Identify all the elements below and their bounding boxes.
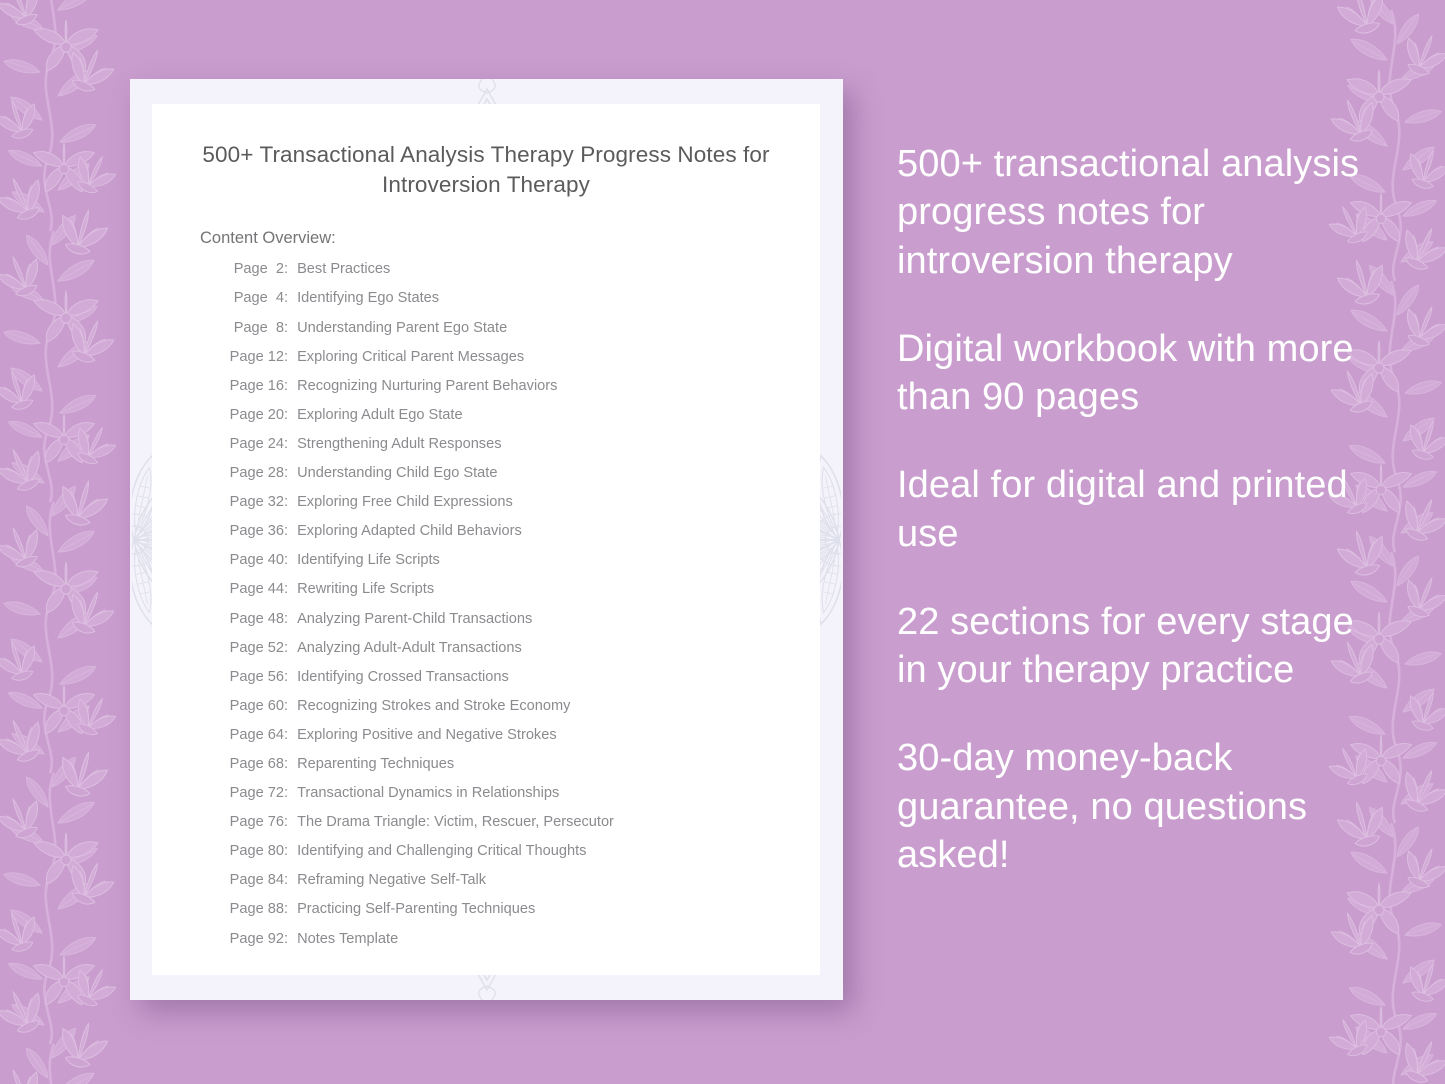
toc-page-number: Page 60: [222, 699, 284, 714]
toc-row: Page 16:Recognizing Nurturing Parent Beh…: [222, 379, 820, 408]
toc-page-number: Page 84: [222, 873, 284, 888]
toc-separator: :: [284, 350, 288, 365]
toc-row: Page 20:Exploring Adult Ego State: [222, 408, 820, 437]
toc-separator: :: [284, 495, 288, 510]
toc-section-title: Recognizing Strokes and Stroke Economy: [297, 699, 820, 714]
toc-section-title: Reframing Negative Self-Talk: [297, 873, 820, 888]
floral-vine-border-left: [0, 0, 142, 1084]
toc-section-title: Identifying Ego States: [297, 291, 820, 306]
toc-row: Page 80:Identifying and Challenging Crit…: [222, 844, 820, 873]
toc-section-title: Strengthening Adult Responses: [297, 437, 820, 452]
toc-page-number: Page 40: [222, 553, 284, 568]
toc-page-number: Page 24: [222, 437, 284, 452]
toc-page-number: Page 44: [222, 582, 284, 597]
toc-page-number: Page 28: [222, 466, 284, 481]
card-inner-panel: 500+ Transactional Analysis Therapy Prog…: [152, 104, 820, 975]
toc-separator: :: [284, 815, 288, 830]
toc-row: Page 32:Exploring Free Child Expressions: [222, 495, 820, 524]
toc-row: Page 28:Understanding Child Ego State: [222, 466, 820, 495]
toc-separator: :: [284, 670, 288, 685]
toc-row: Page 44:Rewriting Life Scripts: [222, 582, 820, 611]
toc-separator: :: [284, 873, 288, 888]
toc-page-number: Page 2: [222, 262, 284, 277]
toc-section-title: Exploring Adult Ego State: [297, 408, 820, 423]
toc-separator: :: [284, 612, 288, 627]
toc-row: Page 64:Exploring Positive and Negative …: [222, 728, 820, 757]
toc-separator: :: [284, 408, 288, 423]
toc-separator: :: [284, 728, 288, 743]
toc-section-title: Exploring Adapted Child Behaviors: [297, 524, 820, 539]
toc-page-number: Page 64: [222, 728, 284, 743]
toc-section-title: The Drama Triangle: Victim, Rescuer, Per…: [297, 815, 820, 830]
toc-section-title: Reparenting Techniques: [297, 757, 820, 772]
toc-row: Page 12:Exploring Critical Parent Messag…: [222, 350, 820, 379]
toc-page-number: Page 80: [222, 844, 284, 859]
toc-section-title: Exploring Critical Parent Messages: [297, 350, 820, 365]
toc-separator: :: [284, 321, 288, 336]
toc-separator: :: [284, 582, 288, 597]
toc-section-title: Identifying Life Scripts: [297, 553, 820, 568]
toc-row: Page 84:Reframing Negative Self-Talk: [222, 873, 820, 902]
feature-list: 500+ transactional analysis progress not…: [897, 140, 1367, 879]
toc-row: Page 72:Transactional Dynamics in Relati…: [222, 786, 820, 815]
toc-page-number: Page 56: [222, 670, 284, 685]
toc-page-number: Page 20: [222, 408, 284, 423]
toc-section-title: Transactional Dynamics in Relationships: [297, 786, 820, 801]
toc-separator: :: [284, 902, 288, 917]
toc-page-number: Page 48: [222, 612, 284, 627]
toc-page-number: Page 88: [222, 902, 284, 917]
toc-separator: :: [284, 641, 288, 656]
toc-page-number: Page 32: [222, 495, 284, 510]
toc-page-number: Page 52: [222, 641, 284, 656]
toc-page-number: Page 12: [222, 350, 284, 365]
toc-separator: :: [284, 437, 288, 452]
toc-section-title: Understanding Parent Ego State: [297, 321, 820, 336]
toc-row: Page 60:Recognizing Strokes and Stroke E…: [222, 699, 820, 728]
feature-item: 500+ transactional analysis progress not…: [897, 140, 1367, 285]
toc-section-title: Analyzing Adult-Adult Transactions: [297, 641, 820, 656]
toc-separator: :: [284, 932, 288, 947]
toc-section-title: Rewriting Life Scripts: [297, 582, 820, 597]
toc-page-number: Page 8: [222, 321, 284, 336]
toc-row: Page 76:The Drama Triangle: Victim, Resc…: [222, 815, 820, 844]
table-of-contents: Page 2:Best PracticesPage 4:Identifying …: [222, 262, 820, 960]
toc-row: Page 24:Strengthening Adult Responses: [222, 437, 820, 466]
toc-section-title: Understanding Child Ego State: [297, 466, 820, 481]
toc-separator: :: [284, 262, 288, 277]
toc-row: Page 2:Best Practices: [222, 262, 820, 291]
feature-item: 30-day money-back guarantee, no question…: [897, 734, 1367, 879]
toc-page-number: Page 36: [222, 524, 284, 539]
toc-page-number: Page 72: [222, 786, 284, 801]
toc-row: Page 36:Exploring Adapted Child Behavior…: [222, 524, 820, 553]
toc-separator: :: [284, 524, 288, 539]
toc-section-title: Analyzing Parent-Child Transactions: [297, 612, 820, 627]
toc-section-title: Exploring Positive and Negative Strokes: [297, 728, 820, 743]
feature-item: 22 sections for every stage in your ther…: [897, 598, 1367, 695]
toc-section-title: Best Practices: [297, 262, 820, 277]
toc-separator: :: [284, 844, 288, 859]
toc-section-title: Identifying and Challenging Critical Tho…: [297, 844, 820, 859]
toc-row: Page 8:Understanding Parent Ego State: [222, 321, 820, 350]
toc-separator: :: [284, 699, 288, 714]
toc-page-number: Page 68: [222, 757, 284, 772]
toc-row: Page 40:Identifying Life Scripts: [222, 553, 820, 582]
toc-separator: :: [284, 553, 288, 568]
toc-row: Page 88:Practicing Self-Parenting Techni…: [222, 902, 820, 931]
toc-page-number: Page 92: [222, 932, 284, 947]
toc-separator: :: [284, 379, 288, 394]
toc-row: Page 48:Analyzing Parent-Child Transacti…: [222, 612, 820, 641]
feature-item: Digital workbook with more than 90 pages: [897, 325, 1367, 422]
toc-row: Page 52:Analyzing Adult-Adult Transactio…: [222, 641, 820, 670]
toc-row: Page 4:Identifying Ego States: [222, 291, 820, 320]
toc-section-title: Identifying Crossed Transactions: [297, 670, 820, 685]
toc-separator: :: [284, 291, 288, 306]
toc-row: Page 92:Notes Template: [222, 932, 820, 961]
content-overview-label: Content Overview:: [200, 229, 820, 248]
toc-section-title: Notes Template: [297, 932, 820, 947]
product-card: 500+ Transactional Analysis Therapy Prog…: [130, 79, 843, 1000]
toc-separator: :: [284, 466, 288, 481]
toc-section-title: Practicing Self-Parenting Techniques: [297, 902, 820, 917]
page-title: 500+ Transactional Analysis Therapy Prog…: [192, 140, 780, 199]
toc-section-title: Recognizing Nurturing Parent Behaviors: [297, 379, 820, 394]
toc-page-number: Page 16: [222, 379, 284, 394]
toc-section-title: Exploring Free Child Expressions: [297, 495, 820, 510]
feature-item: Ideal for digital and printed use: [897, 461, 1367, 558]
toc-row: Page 68:Reparenting Techniques: [222, 757, 820, 786]
toc-separator: :: [284, 757, 288, 772]
toc-page-number: Page 4: [222, 291, 284, 306]
toc-page-number: Page 76: [222, 815, 284, 830]
toc-separator: :: [284, 786, 288, 801]
toc-row: Page 56:Identifying Crossed Transactions: [222, 670, 820, 699]
